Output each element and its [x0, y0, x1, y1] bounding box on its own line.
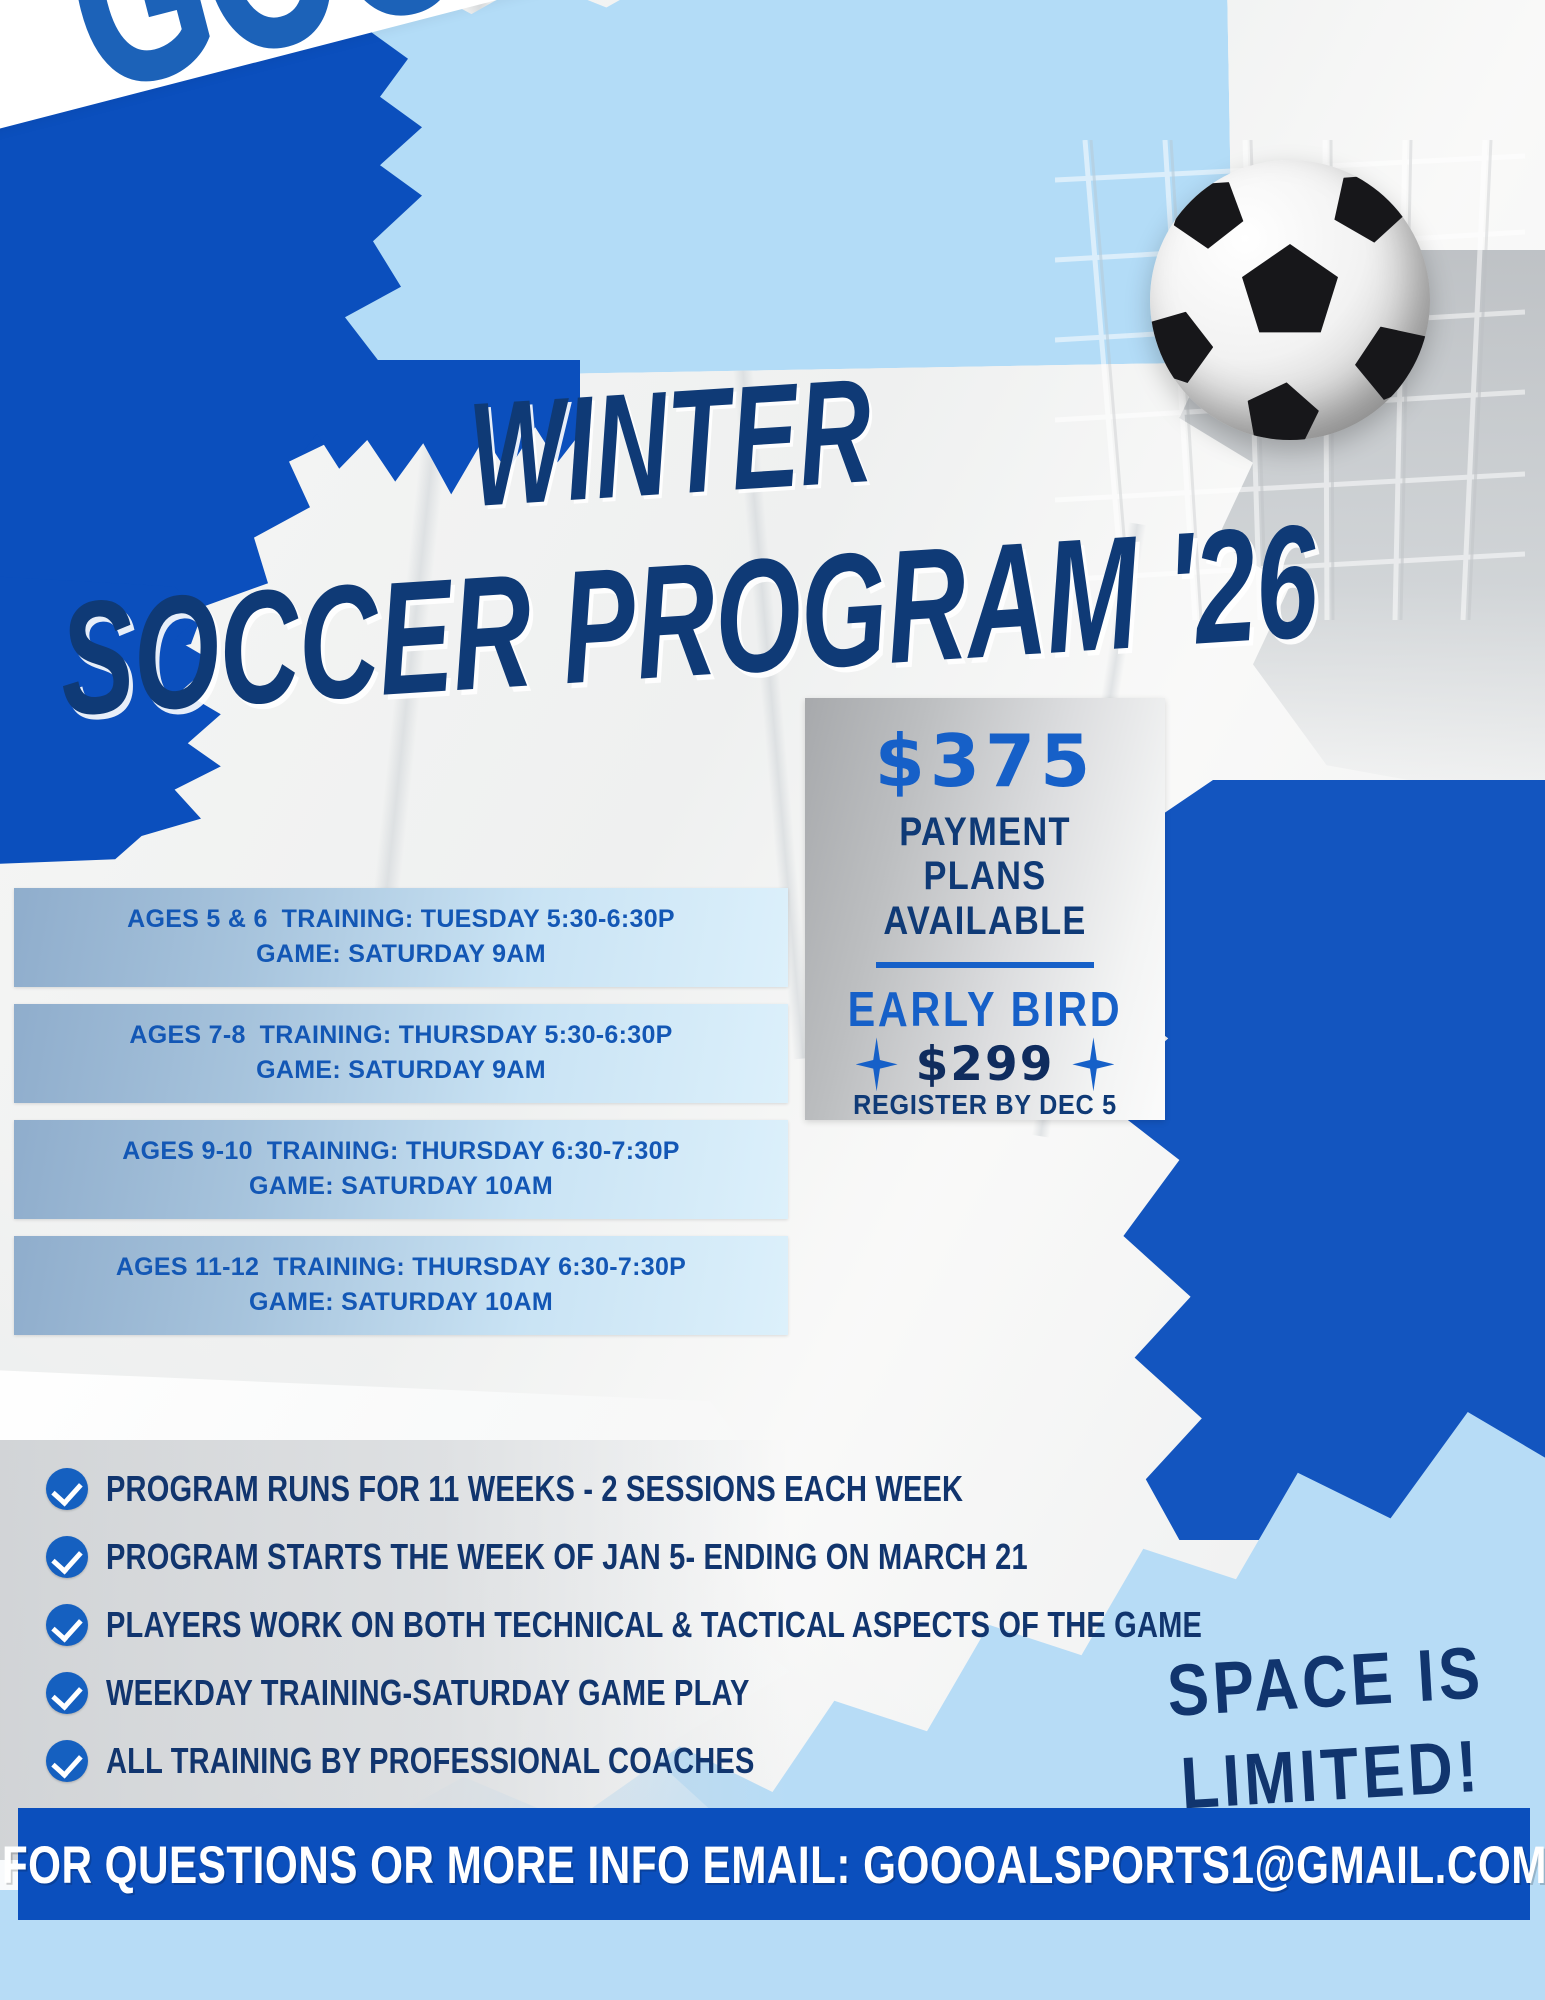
schedule-row-primary: AGES 7-8TRAINING: THURSDAY 5:30-6:30P	[32, 1018, 770, 1053]
schedule-game-time: GAME: SATURDAY 10AM	[32, 1169, 770, 1204]
page-title-line1: WINTER	[465, 357, 876, 530]
schedule-age-group: AGES 9-10	[122, 1137, 253, 1165]
sparkle-icon	[856, 1037, 898, 1091]
check-circle-icon	[46, 1604, 88, 1646]
early-bird-label: EARLY BIRD	[841, 983, 1130, 1035]
schedule-training-time: TRAINING: THURSDAY 5:30-6:30P	[260, 1021, 673, 1049]
schedule-age-group: AGES 5 & 6	[127, 905, 268, 933]
sparkle-icon	[1072, 1037, 1114, 1091]
check-circle-icon	[46, 1740, 88, 1782]
schedule-row: AGES 11-12TRAINING: THURSDAY 6:30-7:30P …	[14, 1236, 788, 1335]
check-circle-icon	[46, 1672, 88, 1714]
schedule-row: AGES 7-8TRAINING: THURSDAY 5:30-6:30P GA…	[14, 1004, 788, 1103]
schedule-game-time: GAME: SATURDAY 9AM	[32, 937, 770, 972]
schedule-age-group: AGES 11-12	[116, 1253, 259, 1281]
feature-text: WEEKDAY TRAINING-SATURDAY GAME PLAY	[106, 1672, 750, 1714]
check-circle-icon	[46, 1468, 88, 1510]
flyer-poster: GOOOAL sports WINTER SOCCER PROGRAM '26 …	[0, 0, 1545, 2000]
schedule-game-time: GAME: SATURDAY 9AM	[32, 1053, 770, 1088]
schedule-training-time: TRAINING: TUESDAY 5:30-6:30P	[282, 905, 675, 933]
price-amount: $375	[821, 724, 1149, 800]
contact-banner: FOR QUESTIONS OR MORE INFO EMAIL: GOOOAL…	[18, 1808, 1530, 1920]
divider	[876, 962, 1094, 968]
schedule-row-primary: AGES 5 & 6TRAINING: TUESDAY 5:30-6:30P	[32, 902, 770, 937]
schedule-list: AGES 5 & 6TRAINING: TUESDAY 5:30-6:30P G…	[14, 888, 788, 1352]
schedule-training-time: TRAINING: THURSDAY 6:30-7:30P	[273, 1253, 686, 1281]
schedule-row-primary: AGES 11-12TRAINING: THURSDAY 6:30-7:30P	[32, 1250, 770, 1285]
list-item: PLAYERS WORK ON BOTH TECHNICAL & TACTICA…	[46, 1604, 926, 1646]
payment-plans-line1: PAYMENT PLANS	[844, 810, 1126, 900]
features-list: PROGRAM RUNS FOR 11 WEEKS - 2 SESSIONS E…	[46, 1468, 926, 1808]
contact-email-text: FOR QUESTIONS OR MORE INFO EMAIL: GOOOAL…	[1, 1833, 1545, 1895]
feature-text: PROGRAM STARTS THE WEEK OF JAN 5- ENDING…	[106, 1536, 1028, 1578]
schedule-row: AGES 9-10TRAINING: THURSDAY 6:30-7:30P G…	[14, 1120, 788, 1219]
feature-text: PLAYERS WORK ON BOTH TECHNICAL & TACTICA…	[106, 1604, 1202, 1646]
feature-text: PROGRAM RUNS FOR 11 WEEKS - 2 SESSIONS E…	[106, 1468, 963, 1510]
schedule-row-primary: AGES 9-10TRAINING: THURSDAY 6:30-7:30P	[32, 1134, 770, 1169]
schedule-training-time: TRAINING: THURSDAY 6:30-7:30P	[267, 1137, 680, 1165]
early-bird-deadline: REGISTER BY DEC 5	[837, 1089, 1132, 1121]
early-bird-price: $299	[916, 1041, 1055, 1088]
list-item: ALL TRAINING BY PROFESSIONAL COACHES	[46, 1740, 926, 1782]
schedule-age-group: AGES 7-8	[129, 1021, 245, 1049]
schedule-game-time: GAME: SATURDAY 10AM	[32, 1285, 770, 1320]
list-item: PROGRAM STARTS THE WEEK OF JAN 5- ENDING…	[46, 1536, 926, 1578]
pricing-panel: $375 PAYMENT PLANS AVAILABLE EARLY BIRD …	[805, 698, 1165, 1120]
space-limited-callout: SPACE IS LIMITED!	[1165, 1626, 1492, 1832]
early-bird-price-row: $299	[821, 1037, 1149, 1091]
schedule-row: AGES 5 & 6TRAINING: TUESDAY 5:30-6:30P G…	[14, 888, 788, 987]
feature-text: ALL TRAINING BY PROFESSIONAL COACHES	[106, 1740, 755, 1782]
soccer-ball-icon	[1150, 160, 1430, 440]
payment-plans-line2: AVAILABLE	[844, 899, 1126, 944]
list-item: PROGRAM RUNS FOR 11 WEEKS - 2 SESSIONS E…	[46, 1468, 926, 1510]
list-item: WEEKDAY TRAINING-SATURDAY GAME PLAY	[46, 1672, 926, 1714]
check-circle-icon	[46, 1536, 88, 1578]
